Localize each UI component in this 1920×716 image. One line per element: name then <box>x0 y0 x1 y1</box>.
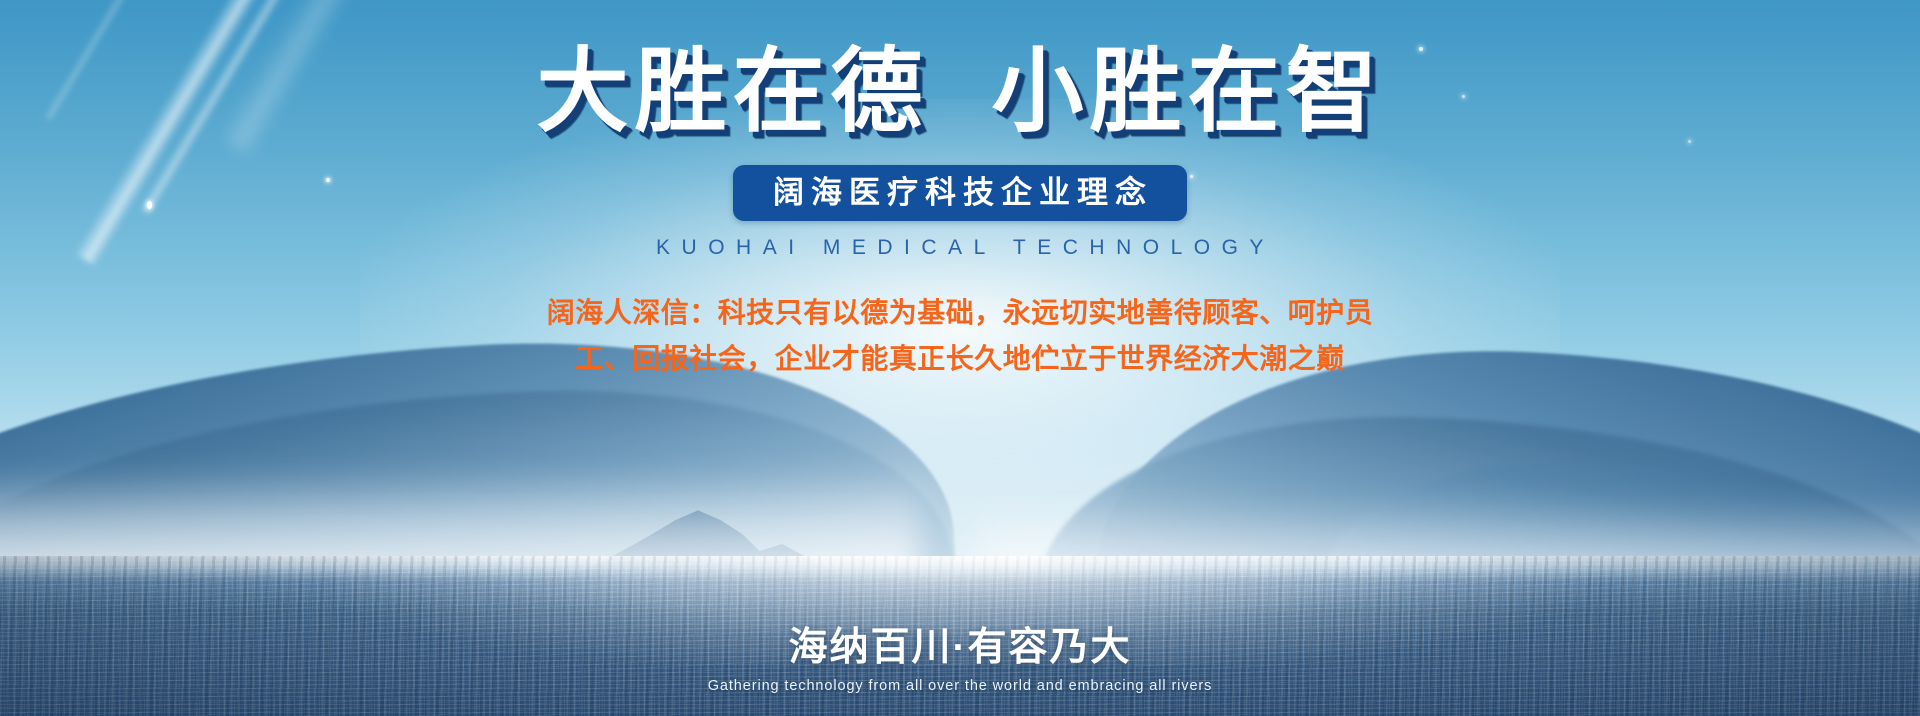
slogan-chinese: 海纳百川·有容乃大 <box>789 626 1132 671</box>
philosophy-body: 阔海人深信：科技只有以德为基础，永远切实地善待顾客、呵护员 工、回报社会，企业才… <box>460 290 1460 381</box>
philosophy-body-line-1: 阔海人深信：科技只有以德为基础，永远切实地善待顾客、呵护员 <box>460 290 1460 335</box>
philosophy-body-line-2: 工、回报社会，企业才能真正长久地伫立于世界经济大潮之巅 <box>460 336 1460 381</box>
banner-content: 大胜在德 小胜在智 阔海医疗科技企业理念 KUOHAI MEDICAL TECH… <box>0 0 1920 716</box>
banner-root: 大胜在德 小胜在智 阔海医疗科技企业理念 KUOHAI MEDICAL TECH… <box>0 0 1920 716</box>
company-name-english: KUOHAI MEDICAL TECHNOLOGY <box>645 236 1275 260</box>
banner-footer: 海纳百川·有容乃大 Gathering technology from all … <box>0 626 1920 694</box>
page-title: 大胜在德 小胜在智 <box>536 42 1383 143</box>
slogan-english: Gathering technology from all over the w… <box>708 678 1213 694</box>
philosophy-badge: 阔海医疗科技企业理念 <box>733 165 1187 221</box>
